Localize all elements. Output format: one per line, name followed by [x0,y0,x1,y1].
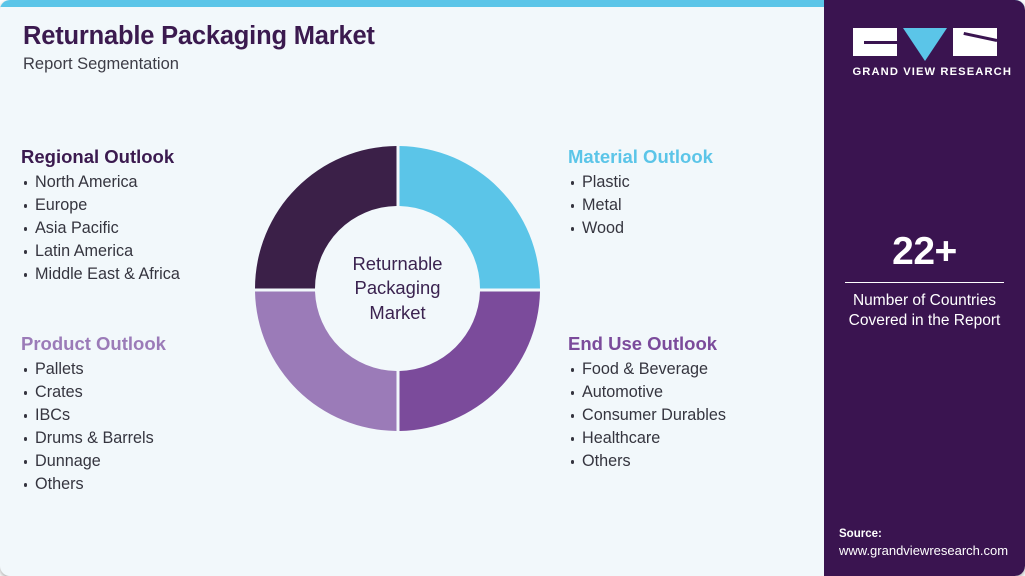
donut-segment-product[interactable] [255,292,397,432]
list-item: Middle East & Africa [21,263,180,286]
outlook-heading-regional: Regional Outlook [21,146,180,168]
stat-block-countries: 22+ Number of Countries Covered in the R… [824,232,1025,331]
donut-segment-regional[interactable] [255,146,397,289]
stat-label: Number of Countries Covered in the Repor… [824,291,1025,331]
list-item: Wood [568,217,713,240]
brand-logo: GRAND VIEW RESEARCH [853,28,997,78]
donut-segment-material[interactable] [400,146,541,289]
stat-value: 22+ [824,232,1025,271]
list-item: Others [568,450,726,473]
infographic-canvas: Returnable Packaging Market Report Segme… [0,0,1025,576]
list-item: Asia Pacific [21,217,180,240]
outlook-list-product: Pallets Crates IBCs Drums & Barrels Dunn… [21,358,166,496]
source-title: Source: [839,526,1008,543]
list-item: Healthcare [568,427,726,450]
logo-marks [853,28,997,60]
list-item: Dunnage [21,450,166,473]
list-item: Latin America [21,240,180,263]
outlook-heading-material: Material Outlook [568,146,713,168]
outlook-block-regional: Regional Outlook North America Europe As… [21,146,180,286]
list-item: IBCs [21,404,166,427]
list-item: Pallets [21,358,166,381]
source-block: Source: www.grandviewresearch.com [839,526,1008,560]
segmentation-donut-chart: Returnable Packaging Market [252,143,543,434]
page-subtitle: Report Segmentation [23,55,375,74]
list-item: Drums & Barrels [21,427,166,450]
outlook-heading-product: Product Outlook [21,333,166,355]
outlook-list-material: Plastic Metal Wood [568,171,713,240]
list-item: Crates [21,381,166,404]
outlook-list-enduse: Food & Beverage Automotive Consumer Dura… [568,358,726,473]
list-item: Europe [21,194,180,217]
outlook-block-enduse: End Use Outlook Food & Beverage Automoti… [568,333,726,473]
logo-v-triangle-icon [903,28,947,61]
list-item: Plastic [568,171,713,194]
logo-r-icon [953,28,997,56]
outlook-heading-enduse: End Use Outlook [568,333,726,355]
list-item: Automotive [568,381,726,404]
page-title: Returnable Packaging Market [23,22,375,51]
stat-label-line-2: Covered in the Report [824,311,1025,331]
outlook-block-product: Product Outlook Pallets Crates IBCs Drum… [21,333,166,496]
list-item: Others [21,473,166,496]
list-item: Metal [568,194,713,217]
stat-label-line-1: Number of Countries [824,291,1025,311]
list-item: Food & Beverage [568,358,726,381]
donut-segment-enduse[interactable] [400,292,541,432]
logo-g-icon [853,28,897,56]
list-item: North America [21,171,180,194]
source-url[interactable]: www.grandviewresearch.com [839,542,1008,560]
stat-divider [845,282,1004,283]
outlook-block-material: Material Outlook Plastic Metal Wood [568,146,713,240]
side-panel: GRAND VIEW RESEARCH 22+ Number of Countr… [824,0,1025,576]
header: Returnable Packaging Market Report Segme… [23,22,375,74]
list-item: Consumer Durables [568,404,726,427]
logo-wordmark: GRAND VIEW RESEARCH [853,66,997,78]
donut-svg [252,143,543,434]
outlook-list-regional: North America Europe Asia Pacific Latin … [21,171,180,286]
